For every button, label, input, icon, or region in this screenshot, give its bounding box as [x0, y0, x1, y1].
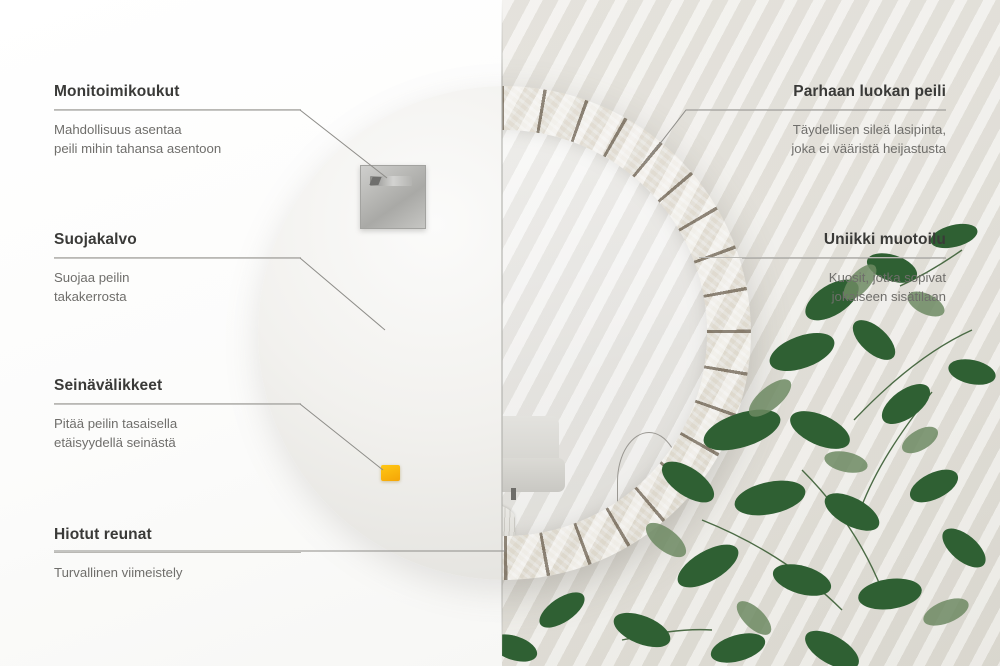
half-divider	[501, 0, 503, 666]
hanger-plate-icon	[360, 165, 426, 229]
reflected-living-room	[502, 351, 707, 536]
reflected-sofa-leg	[511, 488, 516, 500]
feature-rule	[54, 552, 301, 553]
feature-rule	[54, 109, 301, 110]
feature-callout-polished-edges: Hiotut reunat Turvallinen viimeistely	[54, 526, 301, 583]
mirror-back-disc	[258, 86, 502, 580]
wall-spacer-icon	[381, 465, 400, 481]
feature-callout-wall-spacers: Seinävälikkeet Pitää peilin tasaisella e…	[54, 377, 301, 452]
feature-rule	[54, 403, 301, 404]
feature-title: Seinävälikkeet	[54, 377, 301, 395]
feature-title: Hiotut reunat	[54, 526, 301, 544]
mirror-glass	[502, 130, 707, 536]
product-infographic: Monitoimikoukut Mahdollisuus asentaa pei…	[0, 0, 1000, 666]
feature-title: Parhaan luokan peili	[699, 83, 946, 101]
feature-desc: Pitää peilin tasaisella etäisyydellä sei…	[54, 415, 301, 452]
feature-desc: Turvallinen viimeistely	[54, 564, 301, 583]
feature-desc: Suojaa peilin takakerrosta	[54, 269, 301, 306]
reflected-wire-chair	[617, 432, 681, 512]
feature-desc: Kuosit, jotka sopivat jokaiseen sisätila…	[699, 269, 946, 306]
feature-callout-unique-design: Uniikki muotoilu Kuosit, jotka sopivat j…	[699, 231, 946, 306]
feature-callout-mounting-hooks: Monitoimikoukut Mahdollisuus asentaa pei…	[54, 83, 301, 158]
feature-callout-best-class-mirror: Parhaan luokan peili Täydellisen sileä l…	[699, 83, 946, 158]
round-mirror	[502, 86, 751, 580]
feature-rule	[54, 257, 301, 258]
feature-rule	[699, 257, 946, 258]
feature-title: Suojakalvo	[54, 231, 301, 249]
feature-desc: Täydellisen sileä lasipinta, joka ei vää…	[699, 121, 946, 158]
feature-callout-protective-film: Suojakalvo Suojaa peilin takakerrosta	[54, 231, 301, 306]
feature-rule	[699, 109, 946, 110]
reflected-sofa-seat	[502, 458, 565, 492]
feature-title: Monitoimikoukut	[54, 83, 301, 101]
feature-desc: Mahdollisuus asentaa peili mihin tahansa…	[54, 121, 301, 158]
hanger-slot	[370, 176, 412, 186]
feature-title: Uniikki muotoilu	[699, 231, 946, 249]
